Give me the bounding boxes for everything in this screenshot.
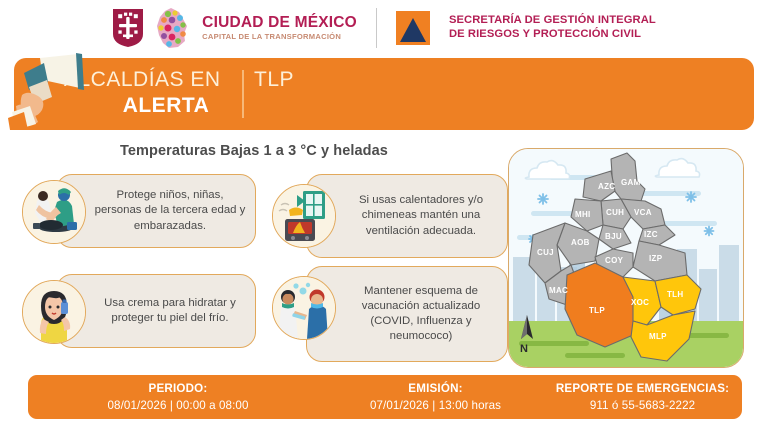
map-label-tlp: TLP <box>589 306 605 315</box>
megaphone-icon <box>2 52 94 130</box>
cdmx-shield-icon <box>112 8 144 48</box>
banner-separator <box>242 70 244 118</box>
recommendation-cards: Protege niños, niñas, personas de la ter… <box>22 170 502 370</box>
map-label-gam: GAM <box>621 178 641 187</box>
cdmx-wordmark: CIUDAD DE MÉXICO CAPITAL DE LA TRANSFORM… <box>202 15 357 41</box>
map-label-izc: IZC <box>644 230 658 239</box>
page-header: CIUDAD DE MÉXICO CAPITAL DE LA TRANSFORM… <box>0 0 768 56</box>
header-divider <box>376 8 377 48</box>
secretaria-line-2: DE RIESGOS Y PROTECCIÓN CIVIL <box>449 28 656 42</box>
heater-and-window-icon <box>272 184 336 248</box>
footer-head: EMISIÓN: <box>328 380 543 397</box>
alert-infographic: CIUDAD DE MÉXICO CAPITAL DE LA TRANSFORM… <box>0 0 768 426</box>
footer-value: 911 ó 55-5683-2222 <box>543 397 742 414</box>
footer-head: REPORTE DE EMERGENCIAS: <box>543 380 742 397</box>
map-label-cuh: CUH <box>606 208 624 217</box>
cdmx-map-emblem-icon <box>154 7 190 49</box>
map-label-mlp: MLP <box>649 332 667 341</box>
card-bubble: Protege niños, niñas, personas de la ter… <box>56 174 256 248</box>
alert-banner: ALCALDÍAS EN ALERTA TLP <box>14 58 754 130</box>
civil-protection-triangle-icon <box>396 11 430 45</box>
card-text: Usa crema para hidratar y proteger tu pi… <box>57 291 255 331</box>
alert-map: AZC GAM MHI CUH VCA IZC AOB BJU IZP COY … <box>508 148 744 368</box>
page-subtitle: Temperaturas Bajas 1 a 3 °C y heladas <box>14 143 494 159</box>
card-text: Protege niños, niñas, personas de la ter… <box>57 183 255 238</box>
vaccination-icon <box>272 276 336 340</box>
map-label-mhi: MHI <box>575 210 591 219</box>
map-label-bju: BJU <box>605 232 622 241</box>
map-label-vca: VCA <box>634 208 652 217</box>
woman-applying-cream-icon <box>22 280 86 344</box>
secretaria-wordmark: SECRETARÍA DE GESTIÓN INTEGRAL DE RIESGO… <box>449 14 656 41</box>
footer-bar: PERIODO: 08/01/2026 | 00:00 a 08:00 EMIS… <box>28 375 742 419</box>
doctor-and-child-icon <box>22 180 86 244</box>
footer-column-emision: EMISIÓN: 07/01/2026 | 13:00 horas <box>328 380 543 415</box>
map-label-azc: AZC <box>598 182 615 191</box>
footer-value: 08/01/2026 | 00:00 a 08:00 <box>28 397 328 414</box>
card-text: Si usas calentadores y/o chimeneas manté… <box>307 188 507 243</box>
card-bubble: Usa crema para hidratar y proteger tu pi… <box>56 274 256 348</box>
map-label-coy: COY <box>605 256 624 265</box>
footer-column-periodo: PERIODO: 08/01/2026 | 00:00 a 08:00 <box>28 380 328 415</box>
map-label-izp: IZP <box>649 254 663 263</box>
map-label-xoc: XOC <box>631 298 649 307</box>
map-label-tlh: TLH <box>667 290 683 299</box>
cdmx-subtitle: CAPITAL DE LA TRANSFORMACIÓN <box>202 32 357 41</box>
map-label-mac: MAC <box>549 286 568 295</box>
secretaria-line-1: SECRETARÍA DE GESTIÓN INTEGRAL <box>449 14 656 28</box>
card-bubble: Mantener esquema de vacunación actualiza… <box>306 266 508 362</box>
map-label-cuj: CUJ <box>537 248 554 257</box>
cdmx-title: CIUDAD DE MÉXICO <box>202 15 357 31</box>
banner-alert-code: TLP <box>254 68 294 92</box>
footer-column-emergencias: REPORTE DE EMERGENCIAS: 911 ó 55-5683-22… <box>543 380 742 415</box>
footer-value: 07/01/2026 | 13:00 horas <box>328 397 543 414</box>
card-bubble: Si usas calentadores y/o chimeneas manté… <box>306 174 508 258</box>
card-text: Mantener esquema de vacunación actualiza… <box>307 279 507 350</box>
map-label-aob: AOB <box>571 238 590 247</box>
footer-head: PERIODO: <box>28 380 328 397</box>
compass-label: N <box>520 343 528 355</box>
